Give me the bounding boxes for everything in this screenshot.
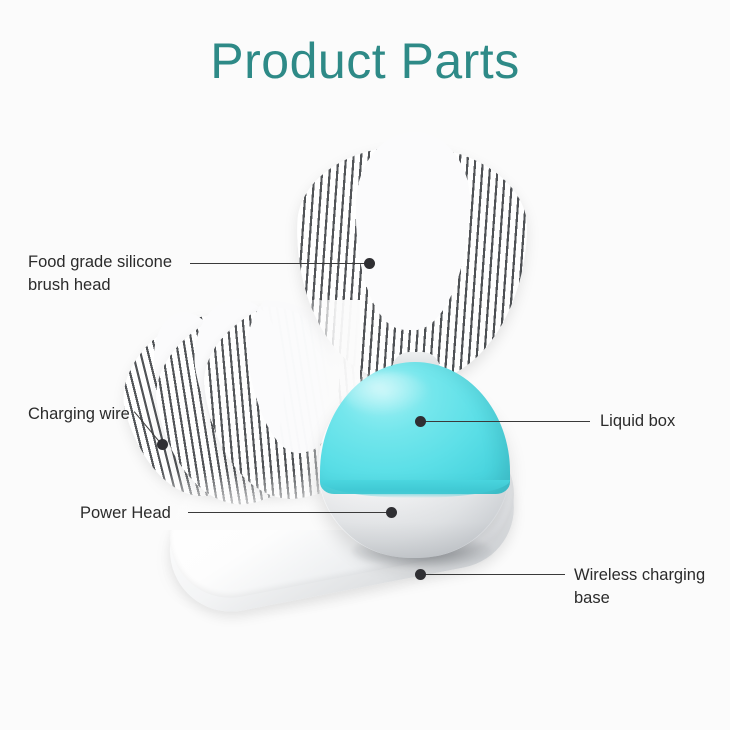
power-head-body <box>318 372 510 558</box>
brush-head-shell <box>196 279 401 516</box>
brush-head-bristles <box>145 284 350 528</box>
callout-power-head: Power Head <box>80 502 171 525</box>
brush-head-inner <box>352 130 473 332</box>
handle-neck <box>392 352 440 374</box>
leader-dot-wireless-charging-base <box>415 569 426 580</box>
wireless-charging-base-lower <box>160 436 525 622</box>
leader-line-power-head <box>188 512 388 513</box>
callout-line-2: brush head <box>28 274 172 297</box>
wireless-charging-base-rim <box>169 431 515 597</box>
callout-line-1: Food grade silicone <box>28 251 172 274</box>
brush-head-shell <box>109 293 292 522</box>
liquid-box-seam <box>320 480 510 498</box>
spare-brush-head-3 <box>109 293 292 522</box>
leader-dot-power-head <box>386 507 397 518</box>
leader-line-wireless-charging-base <box>425 574 565 575</box>
callout-food-grade-silicone-brush-head: Food grade silicone brush head <box>28 251 172 297</box>
brush-head-inner <box>241 278 351 462</box>
brush-head-bristles <box>109 293 292 522</box>
callout-line-2: base <box>574 587 705 610</box>
leader-line-food-grade-silicone-brush-head <box>190 263 370 264</box>
brush-head-inner <box>185 287 299 472</box>
liquid-box-highlight <box>344 372 430 416</box>
callout-wireless-charging-base: Wireless charging base <box>574 564 705 610</box>
brush-head-shell <box>145 284 350 528</box>
callout-line-1: Liquid box <box>600 410 675 433</box>
leader-dot-charging-wire <box>157 439 168 450</box>
artwork-fade-right <box>300 300 360 530</box>
callout-liquid-box: Liquid box <box>600 410 675 433</box>
product-parts-infographic: Product Parts <box>0 0 730 730</box>
leader-dot-liquid-box <box>415 416 426 427</box>
page-title: Product Parts <box>0 32 730 90</box>
wireless-charging-base-top <box>160 424 525 608</box>
callout-line-1: Wireless charging <box>574 564 705 587</box>
leader-line-liquid-box <box>425 421 590 422</box>
callout-charging-wire: Charging wire <box>28 403 130 426</box>
brush-head-bristles <box>196 279 401 516</box>
power-head-shading <box>318 430 510 558</box>
handle-contact-shadow <box>352 534 492 568</box>
callout-line-1: Charging wire <box>28 403 130 426</box>
callout-line-1: Power Head <box>80 502 171 525</box>
leader-dot-food-grade-silicone-brush-head <box>364 258 375 269</box>
spare-brush-head-1 <box>196 279 401 516</box>
product-illustration <box>0 0 730 730</box>
liquid-box-dome <box>320 362 510 494</box>
charging-base-shadow <box>153 439 528 637</box>
spare-brush-head-2 <box>145 284 350 528</box>
